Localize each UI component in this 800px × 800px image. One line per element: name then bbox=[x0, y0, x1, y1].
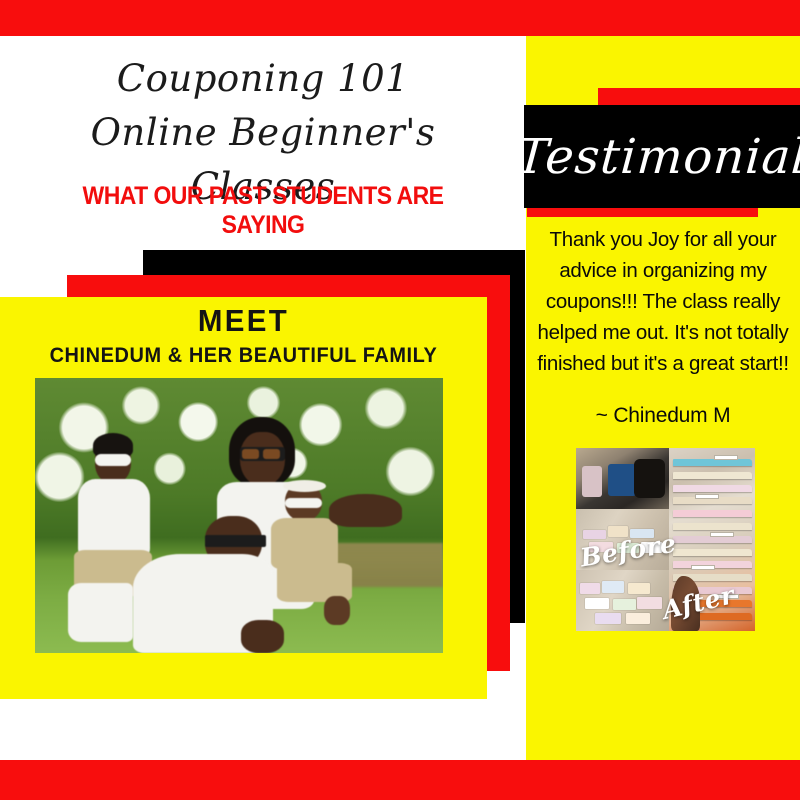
poster-canvas: Couponing 101 Online Beginner's Classes … bbox=[0, 0, 800, 800]
mother-arm bbox=[329, 494, 402, 527]
folder-tab bbox=[691, 565, 715, 570]
testimonial-quote: Thank you Joy for all your advice in org… bbox=[532, 224, 794, 379]
family-photo bbox=[35, 378, 443, 653]
before-cell-top bbox=[576, 448, 669, 509]
meet-heading: MEET bbox=[12, 303, 475, 339]
page-subtitle: WHAT OUR PAST STUDENTS ARE SAYING bbox=[39, 182, 486, 240]
meet-subheading: CHINEDUM & HER BEAUTIFUL FAMILY bbox=[12, 344, 475, 368]
top-red-bar bbox=[0, 0, 800, 36]
testimonial-attribution: ~ Chinedum M bbox=[532, 404, 794, 428]
folder-tab bbox=[714, 455, 738, 460]
testimonial-red-accent-bottom bbox=[527, 208, 758, 217]
father-figure bbox=[133, 516, 313, 654]
before-after-photo: Before After bbox=[576, 448, 755, 631]
testimonial-red-accent-top bbox=[598, 88, 800, 105]
coupon-scatter-bottom bbox=[576, 570, 669, 631]
folder-tab bbox=[710, 532, 734, 537]
before-cell-bottom bbox=[576, 570, 669, 631]
title-line-1: Couponing 101 bbox=[20, 52, 506, 106]
bottom-red-bar bbox=[0, 760, 800, 800]
folder-tab bbox=[695, 494, 719, 499]
testimonial-label: Testimonial bbox=[520, 105, 800, 208]
